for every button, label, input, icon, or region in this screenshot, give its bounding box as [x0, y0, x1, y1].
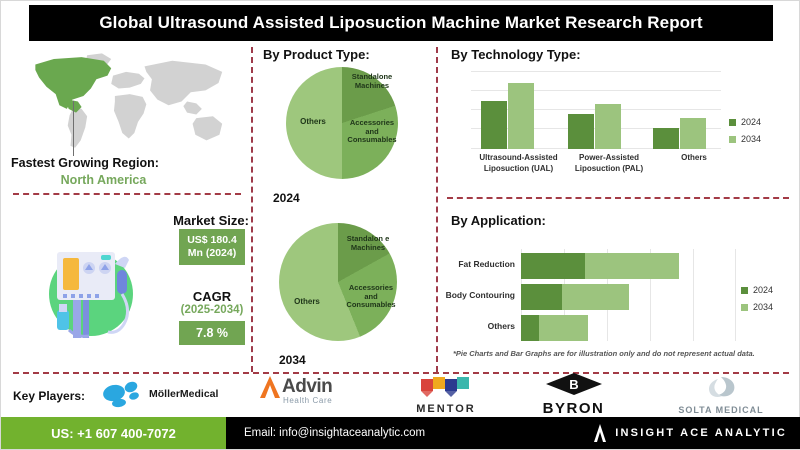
- footer-email[interactable]: Email: info@insightaceanalytic.com: [244, 427, 425, 439]
- key-players-label: Key Players:: [13, 389, 85, 403]
- pie-2034-label-standalone: Standalon e Machines: [344, 235, 392, 252]
- market-size-line1: US$ 180.4: [187, 234, 237, 247]
- bar-pal-2034: [595, 104, 621, 149]
- application-heading: By Application:: [451, 213, 546, 228]
- hbar-others-2034: [539, 315, 588, 341]
- advin-text: Advin: [282, 376, 332, 398]
- tech-category-label-others: Others: [661, 153, 727, 164]
- page-title: Global Ultrasound Assisted Liposuction M…: [99, 13, 702, 33]
- application-chart-legend: 2024 2034: [741, 285, 773, 319]
- divider-vertical-left: [251, 47, 253, 372]
- application-bar-chart: [521, 249, 736, 341]
- market-size-title: Market Size:: [161, 213, 261, 228]
- pie-2024-slice-others-text: Others: [300, 117, 326, 126]
- product-type-heading: By Product Type:: [263, 47, 370, 62]
- legend-item-2024: 2024: [741, 285, 773, 295]
- legend-swatch-2034: [741, 304, 748, 311]
- divider-horizontal-bottom: [13, 372, 789, 374]
- infographic-page: Global Ultrasound Assisted Liposuction M…: [0, 0, 800, 450]
- footer-brand: INSIGHT ACE ANALYTIC: [593, 423, 787, 443]
- market-size-line2: Mn (2024): [188, 247, 236, 260]
- legend-swatch-2034: [729, 136, 736, 143]
- divider-vertical-right: [436, 47, 438, 372]
- logo-solta-medical: SOLTA MEDICAL: [666, 375, 776, 411]
- legend-label-2024: 2024: [753, 285, 773, 295]
- pie-2034-slice-accessories-text: Accessories and Consumables: [346, 283, 395, 309]
- hbar-fat-reduction-2024: [521, 253, 585, 279]
- mentor-text: MENTOR: [401, 403, 491, 415]
- legend-swatch-2024: [741, 287, 748, 294]
- pie-2024-label-others: Others: [293, 117, 333, 126]
- logo-mentor: MENTOR: [401, 375, 491, 411]
- liposuction-machine-illustration: [29, 234, 147, 346]
- bar-others-2034: [680, 118, 706, 149]
- advin-subtext: Health Care: [283, 396, 369, 405]
- hbar-body-contouring: [521, 284, 629, 310]
- bar-ual-2024: [481, 101, 507, 149]
- footer-phone[interactable]: US: +1 607 400-7072: [1, 417, 226, 449]
- bar-ual-2034: [508, 83, 534, 149]
- app-category-label-body-contouring: Body Contouring: [435, 290, 515, 300]
- pie-2024-slice-standalone-text: Standalone Machines: [352, 72, 392, 90]
- hbar-body-contouring-2024: [521, 284, 562, 310]
- fastest-growing-region-label: Fastest Growing Region:: [11, 156, 226, 170]
- divider-horizontal-left: [13, 193, 241, 195]
- tech-category-label-ual: Ultrasound-Assisted Liposuction (UAL): [471, 153, 566, 175]
- footer-right: Email: info@insightaceanalytic.com INSIG…: [226, 417, 800, 449]
- cagr-value-box: 7.8 %: [179, 321, 245, 345]
- app-category-label-others: Others: [441, 321, 515, 331]
- technology-type-heading: By Technology Type:: [451, 47, 581, 62]
- gridline: [471, 71, 721, 72]
- legend-swatch-2024: [729, 119, 736, 126]
- insight-ace-a-logo: [593, 423, 607, 443]
- legend-label-2024: 2024: [741, 117, 761, 127]
- technology-bar-chart: [471, 71, 721, 149]
- cagr-years: (2025-2034): [158, 304, 266, 316]
- solta-medical-icon: [704, 375, 738, 399]
- pie-2024-label-accessories: Accessories and Consumables: [345, 119, 399, 145]
- pie-2034-label-others: Others: [287, 297, 327, 306]
- world-map-icon: [15, 49, 237, 154]
- technology-chart-legend: 2024 2034: [729, 117, 761, 151]
- legend-item-2024: 2024: [729, 117, 761, 127]
- fastest-growing-region-value: North America: [11, 173, 196, 187]
- market-size-value-box: US$ 180.4 Mn (2024): [179, 229, 245, 265]
- hbar-others-2024: [521, 315, 539, 341]
- tech-category-label-pal: Power-Assisted Liposuction (PAL): [563, 153, 655, 175]
- pie-2034-label-accessories: Accessories and Consumables: [343, 284, 399, 310]
- hbar-body-contouring-2034: [562, 284, 629, 310]
- pie-2024-slice-accessories-text: Accessories and Consumables: [347, 118, 396, 144]
- liposuction-machine-icon: [29, 234, 147, 346]
- chart-disclaimer-note: *Pie Charts and Bar Graphs are for illus…: [453, 349, 783, 358]
- pie-2034-slice-standalone-text: Standalon e Machines: [347, 234, 390, 252]
- logo-advin: Advin Health Care: [259, 375, 369, 411]
- mentor-logo: [419, 375, 473, 397]
- solta-medical-text: SOLTA MEDICAL: [666, 405, 776, 415]
- app-category-label-fat-reduction: Fat Reduction: [441, 259, 515, 269]
- pie-2024-label-standalone: Standalone Machines: [346, 73, 398, 90]
- moller-medical-text: MöllerMedical: [149, 388, 218, 400]
- legend-label-2034: 2034: [753, 302, 773, 312]
- legend-item-2034: 2034: [729, 134, 761, 144]
- world-map: [15, 49, 237, 154]
- gridline: [735, 249, 736, 341]
- hbar-fat-reduction: [521, 253, 679, 279]
- logo-byron: B BYRON: [526, 373, 621, 411]
- moller-medical-logo: [101, 380, 145, 408]
- pie-2034-year: 2034: [279, 353, 306, 367]
- hbar-others: [521, 315, 588, 341]
- footer-brand-text: INSIGHT ACE ANALYTIC: [615, 427, 787, 439]
- pie-2024-year: 2024: [273, 191, 300, 205]
- divider-horizontal-right: [447, 197, 789, 199]
- legend-item-2034: 2034: [741, 302, 773, 312]
- advin-a-icon: [259, 375, 281, 399]
- title-bar: Global Ultrasound Assisted Liposuction M…: [29, 5, 773, 41]
- legend-label-2034: 2034: [741, 134, 761, 144]
- hbar-fat-reduction-2034: [585, 253, 679, 279]
- footer-bar: US: +1 607 400-7072 Email: info@insighta…: [1, 417, 800, 449]
- bar-pal-2024: [568, 114, 594, 149]
- pie-2034-slice-others-text: Others: [294, 297, 320, 306]
- map-pointer-line: [73, 101, 74, 156]
- byron-text: BYRON: [526, 400, 621, 417]
- bar-others-2024: [653, 128, 679, 149]
- logo-moller-medical: MöllerMedical: [101, 379, 219, 409]
- svg-text:B: B: [569, 377, 578, 392]
- cagr-title: CAGR: [164, 289, 260, 304]
- byron-diamond-icon: B: [546, 373, 602, 395]
- gridline: [693, 249, 694, 341]
